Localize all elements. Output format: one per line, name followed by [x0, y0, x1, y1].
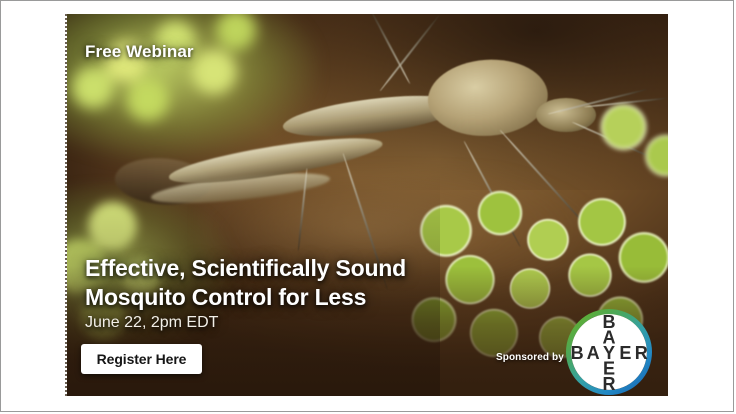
sponsored-by-label: Sponsored by — [496, 352, 564, 363]
eyebrow-label: Free Webinar — [85, 42, 194, 62]
page-background: Free Webinar Effective, Scientifically S… — [0, 0, 734, 412]
bayer-logo[interactable]: B A Y E R B A E R — [566, 309, 652, 395]
bayer-horizontal-a: A — [587, 343, 600, 363]
headline-line-1: Effective, Scientifically Sound — [85, 254, 515, 283]
mosquito-thorax — [425, 55, 550, 140]
headline-line-2: Mosquito Control for Less — [85, 283, 515, 312]
mosquito-leg — [369, 14, 410, 84]
bayer-vertical-r: R — [602, 374, 615, 394]
bayer-horizontal-e: E — [619, 343, 631, 363]
free-webinar-banner-ad[interactable]: Free Webinar Effective, Scientifically S… — [65, 14, 668, 396]
register-here-button[interactable]: Register Here — [81, 344, 202, 374]
ad-headline: Effective, Scientifically Sound Mosquito… — [85, 254, 515, 312]
webinar-datetime: June 22, 2pm EDT — [85, 314, 218, 332]
bayer-cross-logo-icon: B A Y E R B A E R — [566, 309, 652, 395]
bayer-horizontal-r: R — [635, 343, 648, 363]
bayer-horizontal-b: B — [571, 343, 584, 363]
mosquito-leg — [379, 15, 440, 92]
